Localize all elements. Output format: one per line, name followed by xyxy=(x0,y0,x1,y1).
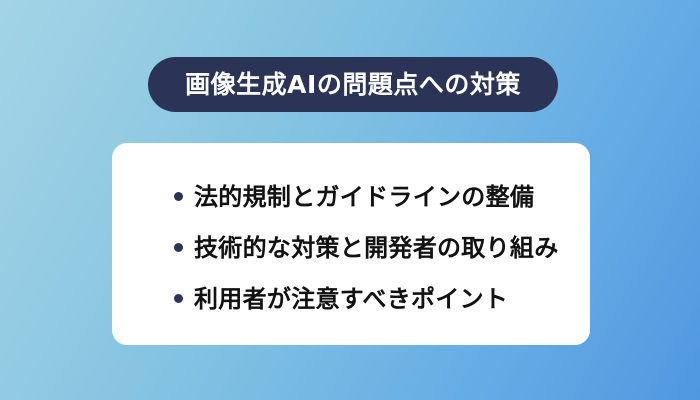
list-item: 技術的な対策と開発者の取り組み xyxy=(174,222,566,273)
bullet-dot-icon xyxy=(174,192,183,201)
bullet-item-label: 利用者が注意すべきポイント xyxy=(194,287,508,311)
bullet-dot-icon xyxy=(174,294,183,303)
list-item: 法的規制とガイドラインの整備 xyxy=(174,171,566,222)
bullet-list: 法的規制とガイドラインの整備 技術的な対策と開発者の取り組み 利用者が注意すべき… xyxy=(174,171,566,324)
content-card: 法的規制とガイドラインの整備 技術的な対策と開発者の取り組み 利用者が注意すべき… xyxy=(112,143,590,345)
bullet-item-label: 法的規制とガイドラインの整備 xyxy=(194,185,534,209)
page-title: 画像生成AIの問題点への対策 xyxy=(185,72,521,97)
bullet-item-label: 技術的な対策と開発者の取り組み xyxy=(194,236,559,260)
bullet-dot-icon xyxy=(174,243,183,252)
slide-canvas: 画像生成AIの問題点への対策 法的規制とガイドラインの整備 技術的な対策と開発者… xyxy=(0,0,700,400)
title-pill: 画像生成AIの問題点への対策 xyxy=(148,57,558,112)
list-item: 利用者が注意すべきポイント xyxy=(174,273,566,324)
